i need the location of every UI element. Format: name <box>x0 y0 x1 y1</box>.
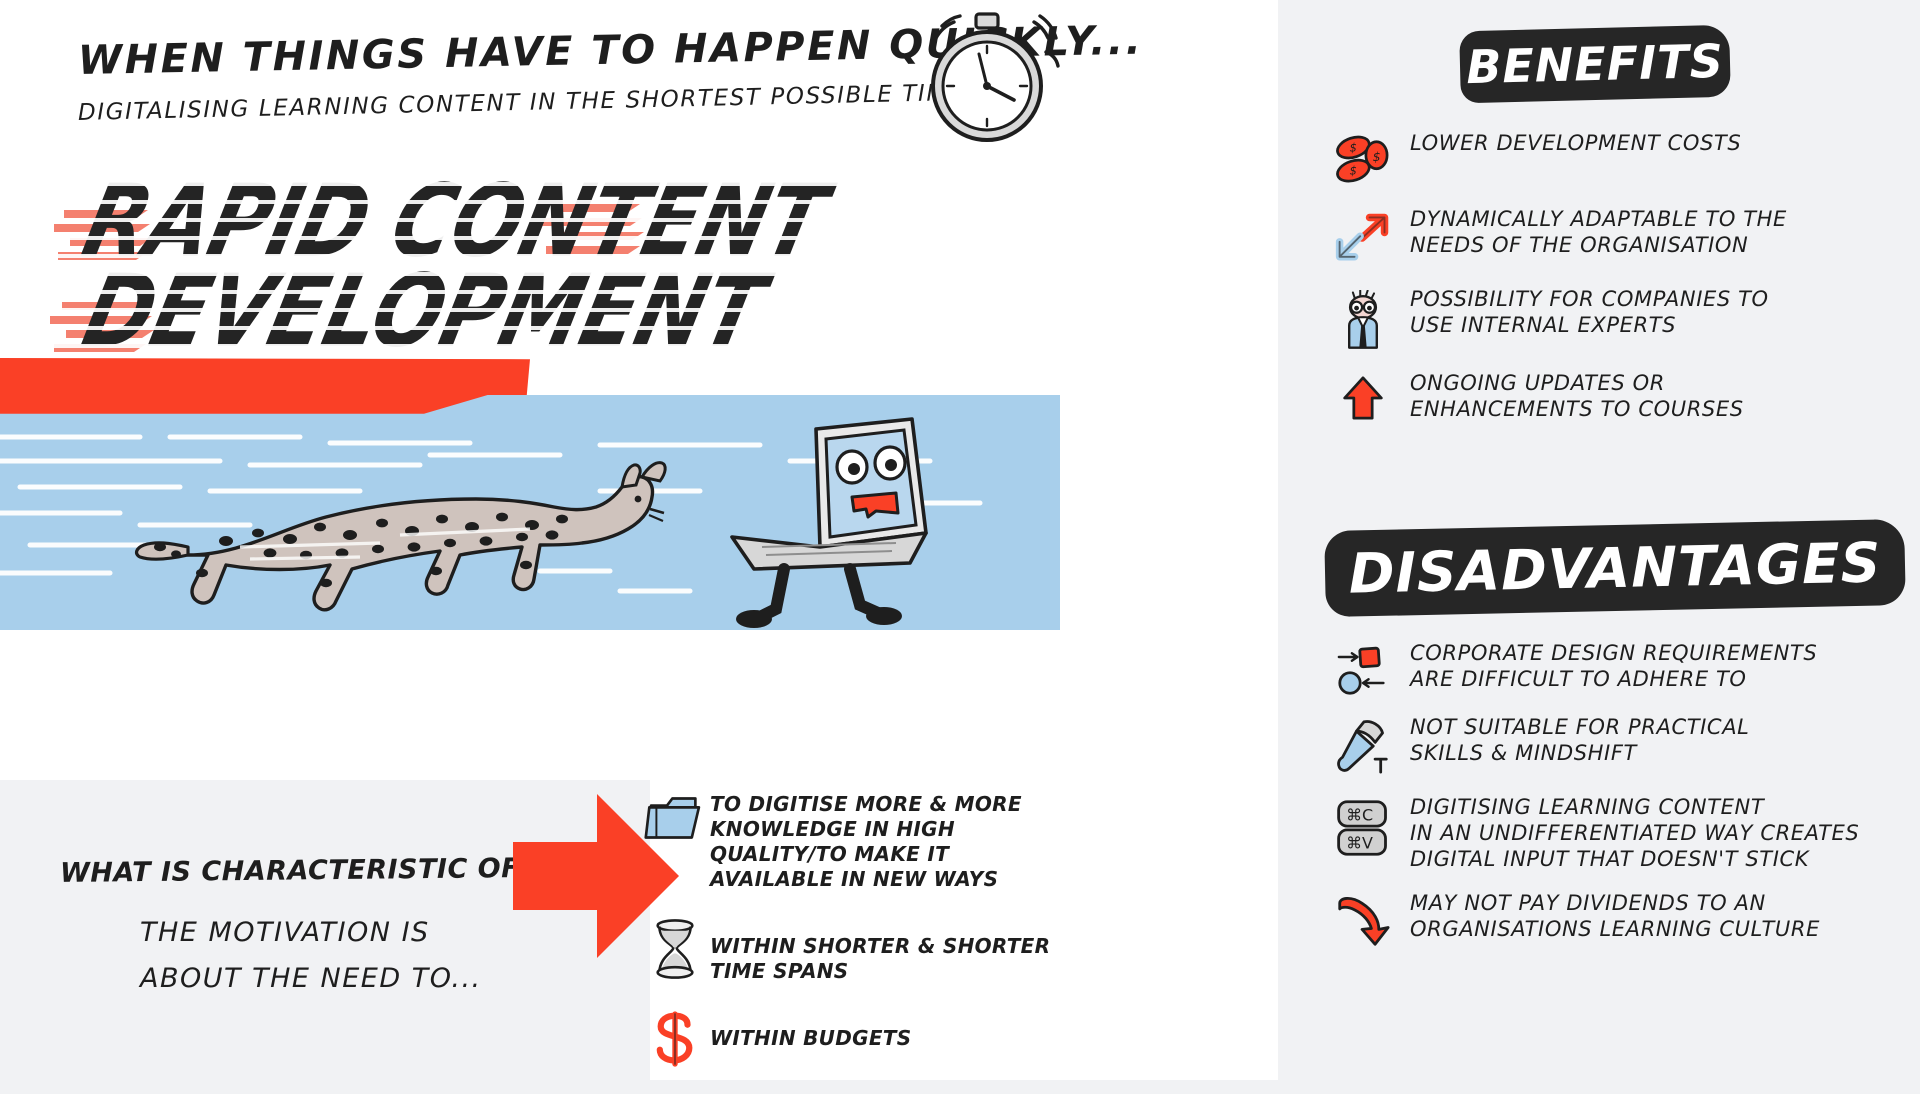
list-item: MAY NOT PAY DIVIDENDS TO AN ORGANISATION… <box>1315 890 1920 948</box>
question-sub-line-2: ABOUT THE NEED TO... <box>140 956 482 1002</box>
line: NOT SUITABLE FOR PRACTICAL <box>1410 714 1749 740</box>
disadvantages-badge: DISADVANTAGES <box>1324 519 1906 617</box>
list-item-text: DIGITISING LEARNING CONTENT IN AN UNDIFF… <box>1410 794 1869 872</box>
hourglass-icon <box>640 918 710 980</box>
question-sub-line-1: THE MOTIVATION IS <box>140 910 482 956</box>
list-item-text: MAY NOT PAY DIVIDENDS TO AN ORGANISATION… <box>1410 890 1830 942</box>
copy-paste-keys-icon: ⌘C ⌘V <box>1315 794 1410 858</box>
list-item: TO DIGITISE MORE & MORE KNOWLEDGE IN HIG… <box>640 790 1060 892</box>
list-item-text: NOT SUITABLE FOR PRACTICAL SKILLS & MIND… <box>1410 714 1759 766</box>
infographic-canvas: WHEN THINGS HAVE TO HAPPEN QUICKLY... DI… <box>0 0 1920 1080</box>
line: ONGOING UPDATES OR <box>1410 370 1744 396</box>
list-item-text: CORPORATE DESIGN REQUIREMENTS ARE DIFFIC… <box>1410 640 1827 692</box>
line: ORGANISATIONS LEARNING CULTURE <box>1410 916 1820 942</box>
laptop-character-icon <box>732 419 926 628</box>
list-item-text: LOWER DEVELOPMENT COSTS <box>1410 130 1751 156</box>
line: WITHIN BUDGETS <box>710 1026 911 1050</box>
benefits-badge: BENEFITS <box>1459 25 1731 104</box>
list-item-text: WITHIN BUDGETS <box>710 1010 911 1051</box>
line: USE INTERNAL EXPERTS <box>1410 312 1769 338</box>
svg-text:$: $ <box>1372 149 1380 164</box>
list-item-text: WITHIN SHORTER & SHORTER TIME SPANS <box>710 918 1060 984</box>
line: CORPORATE DESIGN REQUIREMENTS <box>1410 640 1817 666</box>
left-panel: WHEN THINGS HAVE TO HAPPEN QUICKLY... DI… <box>0 0 1315 1080</box>
up-arrow-icon <box>1315 370 1410 422</box>
list-item-text: TO DIGITISE MORE & MORE KNOWLEDGE IN HIG… <box>710 790 1060 892</box>
list-item: DYNAMICALLY ADAPTABLE TO THE NEEDS OF TH… <box>1315 206 1920 268</box>
line: IN AN UNDIFFERENTIATED WAY CREATES <box>1410 820 1859 846</box>
disadvantages-list: CORPORATE DESIGN REQUIREMENTS ARE DIFFIC… <box>1315 640 1920 966</box>
line: LOWER DEVELOPMENT COSTS <box>1410 130 1741 156</box>
line: DYNAMICALLY ADAPTABLE TO THE <box>1410 206 1787 232</box>
list-item: WITHIN BUDGETS <box>640 1010 1060 1068</box>
illustration-scene <box>0 395 1060 630</box>
folder-icon <box>640 790 710 846</box>
shape-mismatch-icon <box>1315 640 1410 696</box>
panel-divider <box>1278 0 1318 1080</box>
svg-text:$: $ <box>1349 164 1356 178</box>
line: DIGITISING LEARNING CONTENT <box>1410 794 1859 820</box>
page-subheadline: DIGITALISING LEARNING CONTENT IN THE SHO… <box>78 80 965 126</box>
line: WITHIN SHORTER & <box>710 934 936 958</box>
svg-text:⌘C: ⌘C <box>1346 806 1373 825</box>
benefits-list: $ $ $ LOWER DEVELOPMENT COSTS <box>1315 130 1920 440</box>
curved-down-arrow-icon <box>1315 890 1410 948</box>
line: NEEDS OF THE ORGANISATION <box>1410 232 1787 258</box>
motivation-points-list: TO DIGITISE MORE & MORE KNOWLEDGE IN HIG… <box>640 790 1060 1094</box>
stopwatch-icon <box>880 8 1060 158</box>
title-line-2: DEVELOPMENT <box>73 254 774 370</box>
line: ENHANCEMENTS TO COURSES <box>1410 396 1744 422</box>
line: TO DIGITISE MORE & MORE <box>710 792 1022 816</box>
list-item-text: DYNAMICALLY ADAPTABLE TO THE NEEDS OF TH… <box>1410 206 1797 258</box>
line: POSSIBILITY FOR COMPANIES TO <box>1410 286 1769 312</box>
list-item: WITHIN SHORTER & SHORTER TIME SPANS <box>640 918 1060 984</box>
arrows-adapt-icon <box>1315 206 1410 268</box>
list-item: ONGOING UPDATES OR ENHANCEMENTS TO COURS… <box>1315 370 1920 422</box>
list-item: NOT SUITABLE FOR PRACTICAL SKILLS & MIND… <box>1315 714 1920 776</box>
cheetah-icon <box>137 463 666 610</box>
list-item-text: ONGOING UPDATES OR ENHANCEMENTS TO COURS… <box>1410 370 1754 422</box>
list-item: POSSIBILITY FOR COMPANIES TO USE INTERNA… <box>1315 286 1920 352</box>
svg-text:$: $ <box>1349 140 1356 154</box>
dollar-icon <box>640 1010 710 1068</box>
line: ARE DIFFICULT TO ADHERE TO <box>1410 666 1817 692</box>
list-item: CORPORATE DESIGN REQUIREMENTS ARE DIFFIC… <box>1315 640 1920 696</box>
list-item-text: POSSIBILITY FOR COMPANIES TO USE INTERNA… <box>1410 286 1779 338</box>
list-item: $ $ $ LOWER DEVELOPMENT COSTS <box>1315 130 1920 188</box>
main-title-block: RAPID CONTENT DEVELOPMENT <box>40 150 1100 350</box>
line: MAY NOT PAY DIVIDENDS TO AN <box>1410 890 1820 916</box>
list-item: ⌘C ⌘V DIGITISING LEARNING CONTENT IN AN … <box>1315 794 1920 872</box>
coins-icon: $ $ $ <box>1315 130 1410 188</box>
right-panel: BENEFITS $ $ $ LOWER DEVELOPMENT COSTS <box>1315 0 1920 1080</box>
svg-text:⌘V: ⌘V <box>1346 834 1373 853</box>
question-subtitle: THE MOTIVATION IS ABOUT THE NEED TO... <box>140 910 482 1002</box>
expert-person-icon <box>1315 286 1410 352</box>
line: SKILLS & MINDSHIFT <box>1410 740 1749 766</box>
line: DIGITAL INPUT THAT DOESN'T STICK <box>1410 846 1859 872</box>
hammer-icon <box>1315 714 1410 776</box>
